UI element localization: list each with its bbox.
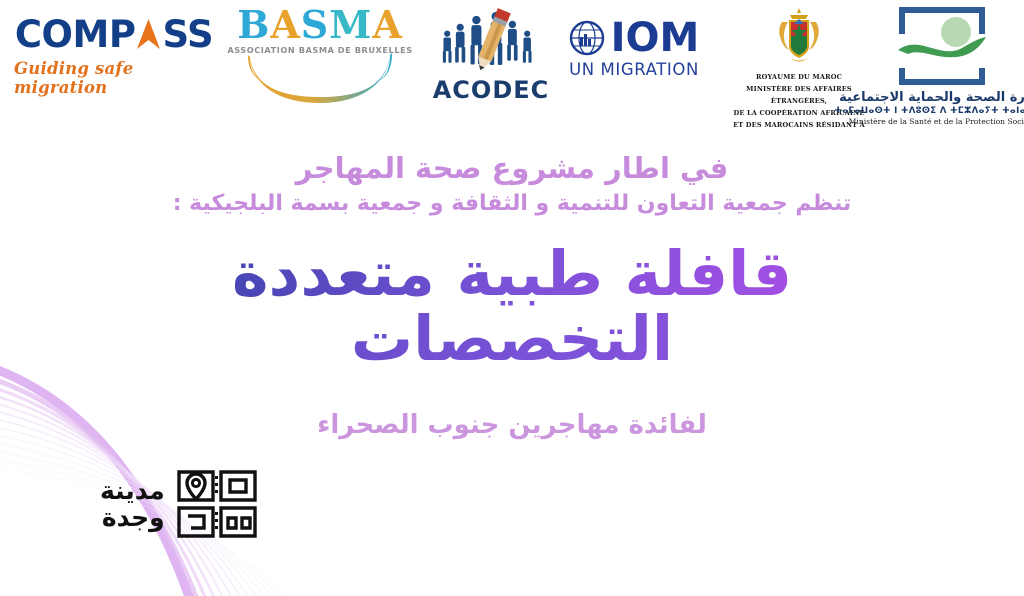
iom-subtitle: UN MIGRATION [569,60,699,79]
compass-word-part1: COMP [15,13,136,56]
poster-subline: لفائدة مهاجرين جنوب الصحراء [0,410,1024,440]
compass-needle-icon [136,19,161,49]
poster-canvas: COMPSS Guiding safe migration BASMA ASSO… [0,0,1024,596]
iom-wordmark: IOM [611,18,700,58]
compass-tagline: Guiding safe migration [14,59,214,97]
basma-letter-m: M [329,6,372,44]
basma-wordmark: BASMA [237,6,403,44]
compass-wordmark: COMPSS [15,16,213,53]
basma-smile-graphic [236,53,404,109]
city-badge-line-2: وجدة [100,504,165,531]
iom-row: IOM [569,18,700,58]
poster-body: في اطار مشروع صحة المهاجر تنظم جمعية الت… [0,150,1024,440]
morocco-coat-of-arms-icon [770,6,828,66]
ministry-health-arabic: وزارة الصحة والحماية الاجتماعية [839,90,1024,105]
basma-letter-a2: A [372,6,402,44]
basma-letter-s: S [301,6,329,44]
logo-iom: IOM UN MIGRATION [560,18,708,79]
compass-word-part2: SS [162,13,213,56]
iom-globe-icon [569,20,605,56]
city-badge-line-1: مدينة [100,477,165,504]
acodec-wordmark: ACODEC [433,76,550,104]
kicker-line-2: تنظم جمعية التعاون للتنمية و الثقافة و ج… [0,190,1024,219]
city-badge-oujda: مدينة وجدة [100,462,259,546]
ministry-health-french: Ministère de la Santé et de la Protectio… [849,117,1024,126]
ministry-health-emblem-icon [886,4,998,88]
partner-logo-strip: COMPSS Guiding safe migration BASMA ASSO… [0,0,1024,146]
logo-compass: COMPSS Guiding safe migration [14,16,214,97]
poster-title-line-2: التخصصات [0,304,1024,373]
mfa-line-1: ROYAUME DU MAROC [724,71,874,83]
logo-ministry-health: وزارة الصحة والحماية الاجتماعية ⵜⴰⵎⴰⵡⴰⵙⵜ… [862,4,1022,126]
basma-letter-a1: A [270,6,300,44]
basma-letter-b: B [237,6,270,44]
city-badge-text: مدينة وجدة [100,477,165,531]
acodec-people-pencil-icon [435,8,547,74]
map-pin-qr-icon [175,462,259,546]
logo-basma: BASMA ASSOCIATION BASMA DE BRUXELLES [232,6,408,109]
ministry-health-tifinagh: ⵜⴰⵎⴰⵡⴰⵙⵜ ⵏ ⵜⴷⵓⵙⵉ ⴷ ⵜⵎⵣⴷⴰⵢⵜ ⵜⴰⵏⴰⵎⵓⵏⵜ [834,106,1024,116]
kicker-line-1: في اطار مشروع صحة المهاجر [0,150,1024,186]
poster-title-line-1: قافلة طبية متعددة [0,239,1024,308]
logo-acodec: ACODEC [432,8,550,104]
